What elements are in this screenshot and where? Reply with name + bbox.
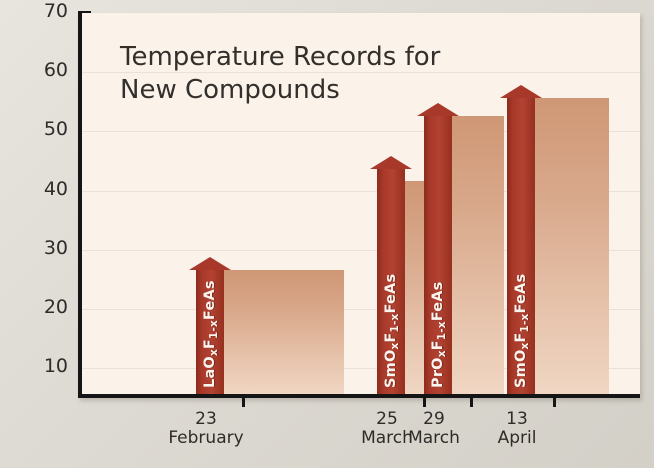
- x-tick-mark-2: [423, 398, 426, 407]
- y-tick-label-40: 40: [28, 178, 68, 200]
- x-label-month: April: [462, 429, 572, 448]
- chart-title-line-1: Temperature Records for: [120, 41, 440, 74]
- chart-figure: Temperature (kelvin) 10203040506070 LaOx…: [0, 0, 654, 468]
- y-tick-label-30: 30: [28, 237, 68, 259]
- x-tick-mark-1: [242, 398, 245, 407]
- y-tick-label-10: 10: [28, 355, 68, 377]
- y-tick-label-60: 60: [28, 59, 68, 81]
- x-label-day: 13: [462, 410, 572, 429]
- chart-title: Temperature Records for New Compounds: [120, 41, 440, 106]
- x-label-day: 23: [151, 410, 261, 429]
- bar-compound-label: SmOxF1-xFeAs: [513, 274, 529, 388]
- bar-arrow-head: [189, 257, 231, 270]
- x-axis-label-1: 23February: [151, 410, 261, 449]
- bar-compound-label: PrOxF1-xFeAs: [430, 281, 446, 388]
- x-label-month: February: [151, 429, 261, 448]
- bar-2: SmOxF1-xFeAs: [377, 169, 405, 394]
- y-tick-label-50: 50: [28, 118, 68, 140]
- bar-compound-label: LaOxF1-xFeAs: [202, 280, 218, 388]
- x-tick-mark-3: [470, 398, 473, 407]
- bar-compound-label: SmOxF1-xFeAs: [383, 274, 399, 388]
- bar-4: SmOxF1-xFeAs: [507, 98, 535, 394]
- x-axis-label-4: 13April: [462, 410, 572, 449]
- y-tick-label-70: 70: [28, 0, 68, 22]
- chart-title-line-2: New Compounds: [120, 74, 440, 107]
- x-tick-mark-4: [553, 398, 556, 407]
- plot-area: LaOxF1-xFeAsSmOxF1-xFeAsPrOxF1-xFeAsSmOx…: [78, 13, 640, 398]
- bar-1: LaOxF1-xFeAs: [196, 270, 224, 394]
- y-tick-label-20: 20: [28, 296, 68, 318]
- bar-arrow-head: [370, 156, 412, 169]
- bar-3: PrOxF1-xFeAs: [424, 116, 452, 394]
- bar-arrow-head: [500, 85, 542, 98]
